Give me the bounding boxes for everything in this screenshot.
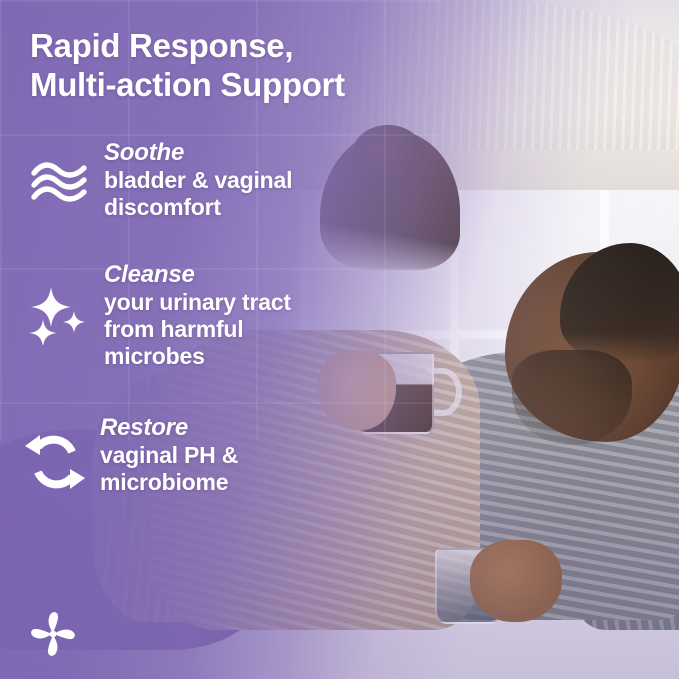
feature-restore: Restore vaginal PH & microbiome (24, 415, 238, 496)
sparkle-icon (28, 284, 90, 346)
restore-cycle-icon (24, 431, 86, 493)
page-title: Rapid Response, Multi-action Support (30, 27, 500, 104)
feature-restore-text: Restore vaginal PH & microbiome (100, 415, 238, 496)
waves-icon (28, 154, 90, 216)
promo-image: Rapid Response, Multi-action Support Soo… (0, 0, 679, 679)
feature-cleanse-text: Cleanse your urinary tract from harmful … (104, 262, 291, 370)
headline-line-2: Multi-action Support (30, 66, 500, 105)
content-layer: Rapid Response, Multi-action Support Soo… (0, 0, 679, 679)
feature-restore-lead: Restore (100, 415, 238, 442)
feature-cleanse-body-1: your urinary tract (104, 289, 291, 316)
feature-cleanse-lead: Cleanse (104, 262, 291, 289)
four-petal-pinwheel-logo (26, 607, 80, 661)
feature-soothe-body-2: discomfort (104, 194, 292, 221)
feature-cleanse-body-2: from harmful (104, 316, 291, 343)
feature-cleanse-body-3: microbes (104, 343, 291, 370)
headline-line-1: Rapid Response, (30, 27, 293, 64)
feature-soothe-text: Soothe bladder & vaginal discomfort (104, 140, 292, 221)
feature-restore-body-1: vaginal PH & (100, 442, 238, 469)
feature-soothe-lead: Soothe (104, 140, 292, 167)
feature-cleanse: Cleanse your urinary tract from harmful … (28, 262, 291, 370)
feature-soothe-body-1: bladder & vaginal (104, 167, 292, 194)
feature-soothe: Soothe bladder & vaginal discomfort (28, 140, 292, 221)
feature-restore-body-2: microbiome (100, 469, 238, 496)
